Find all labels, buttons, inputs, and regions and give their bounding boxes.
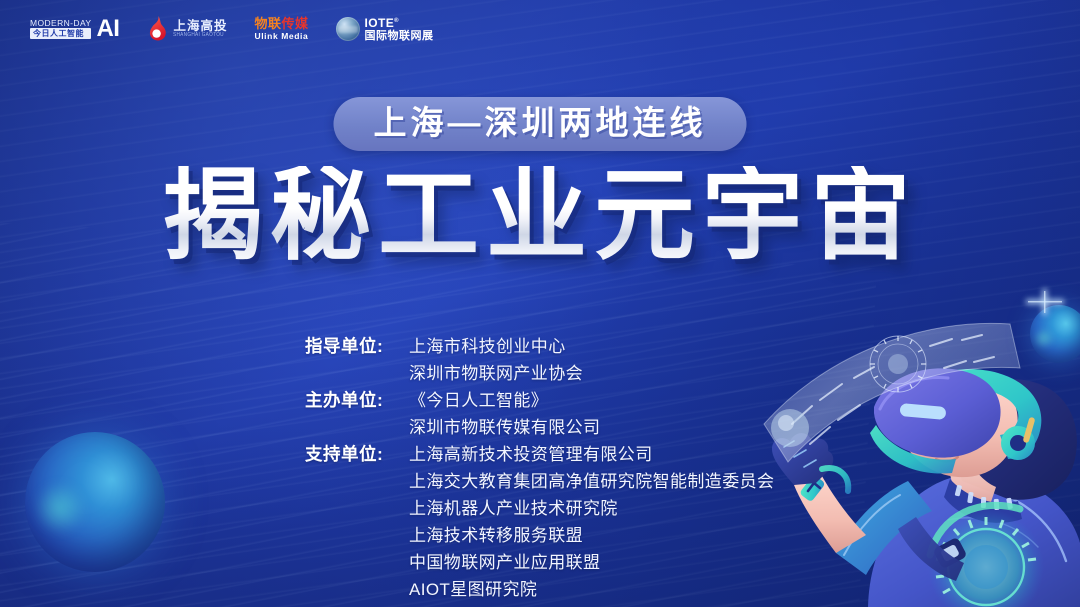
credit-values: 上海高新技术投资管理有限公司 上海交大教育集团高净值研究院智能制造委员会 上海机… [409, 441, 774, 603]
logo-ulink-cn: 物联传媒 [254, 17, 308, 30]
logo-modern-day-ai: MODERN-DAY 今日人工智能 AI [30, 19, 119, 40]
credit-row-guidance: 指导单位: 上海市科技创业中心 深圳市物联网产业协会 [305, 333, 774, 387]
credit-value: 上海机器人产业技术研究院 [409, 495, 774, 522]
credit-value: 《今日人工智能》 [409, 387, 600, 414]
logo-ulink-en: Ulink Media [254, 32, 308, 41]
logo-iote: IOTE® 国际物联网展 [336, 17, 434, 42]
logo-gaotou-en: SHANGHAI GAOTOU [173, 33, 224, 38]
sphere-left-icon [25, 432, 165, 572]
credit-values: 《今日人工智能》 深圳市物联传媒有限公司 [409, 387, 600, 441]
credit-value: 中国物联网产业应用联盟 [409, 549, 774, 576]
logo-iote-trademark: ® [394, 18, 399, 24]
sparkle-icon [1028, 285, 1062, 319]
subtitle-banner: 上海—深圳两地连线 [334, 97, 747, 151]
logo-modern-day-cn: 今日人工智能 [30, 28, 91, 39]
credit-value: 上海交大教育集团高净值研究院智能制造委员会 [409, 468, 774, 495]
poster-canvas: MODERN-DAY 今日人工智能 AI [0, 0, 1080, 607]
credit-value: AIOT星图研究院 [409, 576, 774, 603]
logo-ulink-cn-b: 传媒 [282, 16, 309, 31]
credit-value: 上海市科技创业中心 [409, 333, 583, 360]
credits-block: 指导单位: 上海市科技创业中心 深圳市物联网产业协会 主办单位: 《今日人工智能… [305, 333, 774, 603]
logo-modern-day-en: MODERN-DAY [30, 19, 91, 28]
credit-label: 支持单位: [305, 441, 409, 468]
logo-ulink-media: 物联传媒 Ulink Media [254, 17, 308, 41]
credit-row-organizer: 主办单位: 《今日人工智能》 深圳市物联传媒有限公司 [305, 387, 774, 441]
credit-value: 深圳市物联网产业协会 [409, 360, 583, 387]
logo-iote-cn: 国际物联网展 [365, 31, 434, 42]
credit-value: 上海技术转移服务联盟 [409, 522, 774, 549]
logo-ai-mark: AI [96, 19, 119, 39]
credit-value: 深圳市物联传媒有限公司 [409, 414, 600, 441]
sphere-right-icon [1030, 305, 1080, 363]
globe-icon [336, 17, 360, 41]
logo-gaotou-cn: 上海高投 [173, 20, 227, 33]
logo-shanghai-gaotou: 上海高投 SHANGHAI GAOTOU [146, 16, 227, 42]
vr-person-illustration [750, 267, 1080, 607]
holographic-panel [758, 316, 1028, 466]
subtitle-text: 上海—深圳两地连线 [374, 106, 707, 139]
credit-value: 上海高新技术投资管理有限公司 [409, 441, 774, 468]
logo-iote-en: IOTE® [365, 17, 434, 29]
credit-values: 上海市科技创业中心 深圳市物联网产业协会 [409, 333, 583, 387]
logo-bar: MODERN-DAY 今日人工智能 AI [30, 16, 434, 42]
credit-label: 指导单位: [305, 333, 409, 360]
logo-iote-text: IOTE [365, 16, 395, 30]
credit-row-support: 支持单位: 上海高新技术投资管理有限公司 上海交大教育集团高净值研究院智能制造委… [305, 441, 774, 603]
page-title: 揭秘工业元宇宙 [162, 166, 918, 267]
credit-label: 主办单位: [305, 387, 409, 414]
logo-ulink-cn-a: 物联 [254, 16, 281, 31]
flame-icon [146, 16, 168, 42]
